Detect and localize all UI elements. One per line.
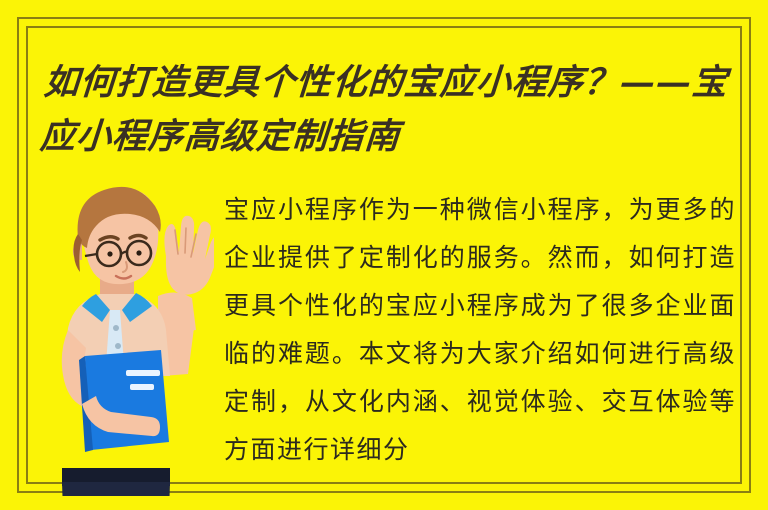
illustration-waving-man-with-book [38, 178, 214, 496]
page-title-text: 如何打造更具个性化的宝应小程序？——宝应小程序高级定制指南 [39, 62, 730, 157]
article-body-paragraph: 宝应小程序作为一种微信小程序，为更多的企业提供了定制化的服务。然而，如何打造更具… [224, 186, 736, 474]
pants-group [62, 468, 170, 496]
page-title: 如何打造更具个性化的宝应小程序？——宝应小程序高级定制指南 [38, 56, 736, 164]
article-banner: 如何打造更具个性化的宝应小程序？——宝应小程序高级定制指南 宝应小程序作为一种微… [0, 0, 768, 510]
article-body: 宝应小程序作为一种微信小程序，为更多的企业提供了定制化的服务。然而，如何打造更具… [224, 186, 736, 474]
head-group [73, 187, 161, 284]
